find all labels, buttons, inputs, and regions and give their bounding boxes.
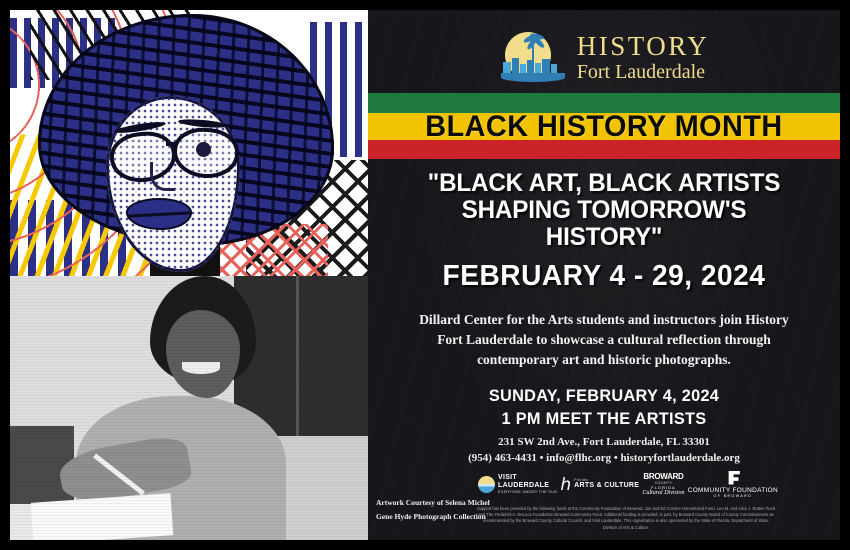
credit-photograph: Gene Hyde Photograph Collection <box>376 510 506 524</box>
contact-address: 231 SW 2nd Ave., Fort Lauderdale, FL 333… <box>386 434 822 450</box>
credit-artwork: Artwork Courtesy of Selena Michel <box>376 496 506 510</box>
wave-icon <box>501 73 565 82</box>
sponsor-visit-lauderdale: VISIT LAUDERDALE EVERYONE UNDER THE SUN <box>478 474 557 494</box>
palm-tree-icon <box>523 34 545 60</box>
community-foundation-line-2: OF BROWARD <box>688 494 778 498</box>
poster: HISTORY Fort Lauderdale BLACK HISTORY MO… <box>0 0 850 550</box>
event-time-line: 1 PM MEET THE ARTISTS <box>395 407 814 430</box>
sponsor-florida-arts-culture: ℎ Florida ARTS & CULTURE <box>560 477 639 492</box>
logo-wordmark: HISTORY Fort Lauderdale <box>577 33 710 82</box>
right-info-column: HISTORY Fort Lauderdale BLACK HISTORY MO… <box>368 10 840 540</box>
event-headline: "BLACK ART, BLACK ARTISTS SHAPING TOMORR… <box>393 170 816 251</box>
florida-arts-line-2: ARTS & CULTURE <box>574 482 639 490</box>
photo-grain-overlay <box>10 276 368 540</box>
event-when-block: SUNDAY, FEBRUARY 4, 2024 1 PM MEET THE A… <box>395 384 814 430</box>
logo-title: HISTORY <box>577 33 710 60</box>
community-foundation-icon <box>726 471 740 485</box>
event-date-range: FEBRUARY 4 - 29, 2024 <box>393 260 816 293</box>
florida-arts-culture-icon: ℎ <box>560 477 571 492</box>
contact-details[interactable]: (954) 463-4431 • info@flhc.org • history… <box>386 450 822 466</box>
artwork-credits: Artwork Courtesy of Selena Michel Gene H… <box>376 496 506 524</box>
community-foundation-line-1: COMMUNITY FOUNDATION <box>688 487 778 494</box>
sponsor-community-foundation: COMMUNITY FOUNDATION OF BROWARD <box>688 471 778 498</box>
visit-lauderdale-sun-wave-icon <box>478 476 495 493</box>
poster-inner: HISTORY Fort Lauderdale BLACK HISTORY MO… <box>10 10 840 540</box>
headline-line-1: "BLACK ART, BLACK ARTISTS <box>393 170 816 197</box>
sun-palm-skyline-icon <box>499 32 567 82</box>
visit-lauderdale-line-1: VISIT <box>498 474 557 482</box>
visit-lauderdale-line-2: LAUDERDALE <box>498 482 557 490</box>
historic-photograph <box>10 276 368 540</box>
sponsor-broward-county: BROWARD COUNTY FLORIDA Cultural Division <box>642 472 684 496</box>
sponsor-logos: VISIT LAUDERDALE EVERYONE UNDER THE SUN … <box>478 466 778 502</box>
headline-line-2: SHAPING TOMORROW'S <box>393 197 816 224</box>
broward-line-1: BROWARD <box>642 472 684 481</box>
broward-line-4: Cultural Division <box>642 490 684 496</box>
pop-art-illustration <box>10 10 368 276</box>
headline-line-3: HISTORY" <box>393 224 816 251</box>
funding-fine-print: Support has been provided by the followi… <box>476 506 776 531</box>
event-description: Dillard Center for the Arts students and… <box>412 310 796 370</box>
event-date-line: SUNDAY, FEBRUARY 4, 2024 <box>395 384 814 407</box>
eye-pupil <box>196 142 211 157</box>
history-fort-lauderdale-logo: HISTORY Fort Lauderdale <box>368 32 840 82</box>
left-image-column <box>10 10 368 540</box>
banner-title: BLACK HISTORY MONTH <box>377 94 830 160</box>
visit-lauderdale-tagline: EVERYONE UNDER THE SUN <box>498 490 557 494</box>
city-skyline-icon <box>503 58 563 74</box>
contact-block: 231 SW 2nd Ave., Fort Lauderdale, FL 333… <box>386 434 822 466</box>
logo-subtitle: Fort Lauderdale <box>577 62 710 82</box>
eyeglass-bridge <box>166 142 178 146</box>
